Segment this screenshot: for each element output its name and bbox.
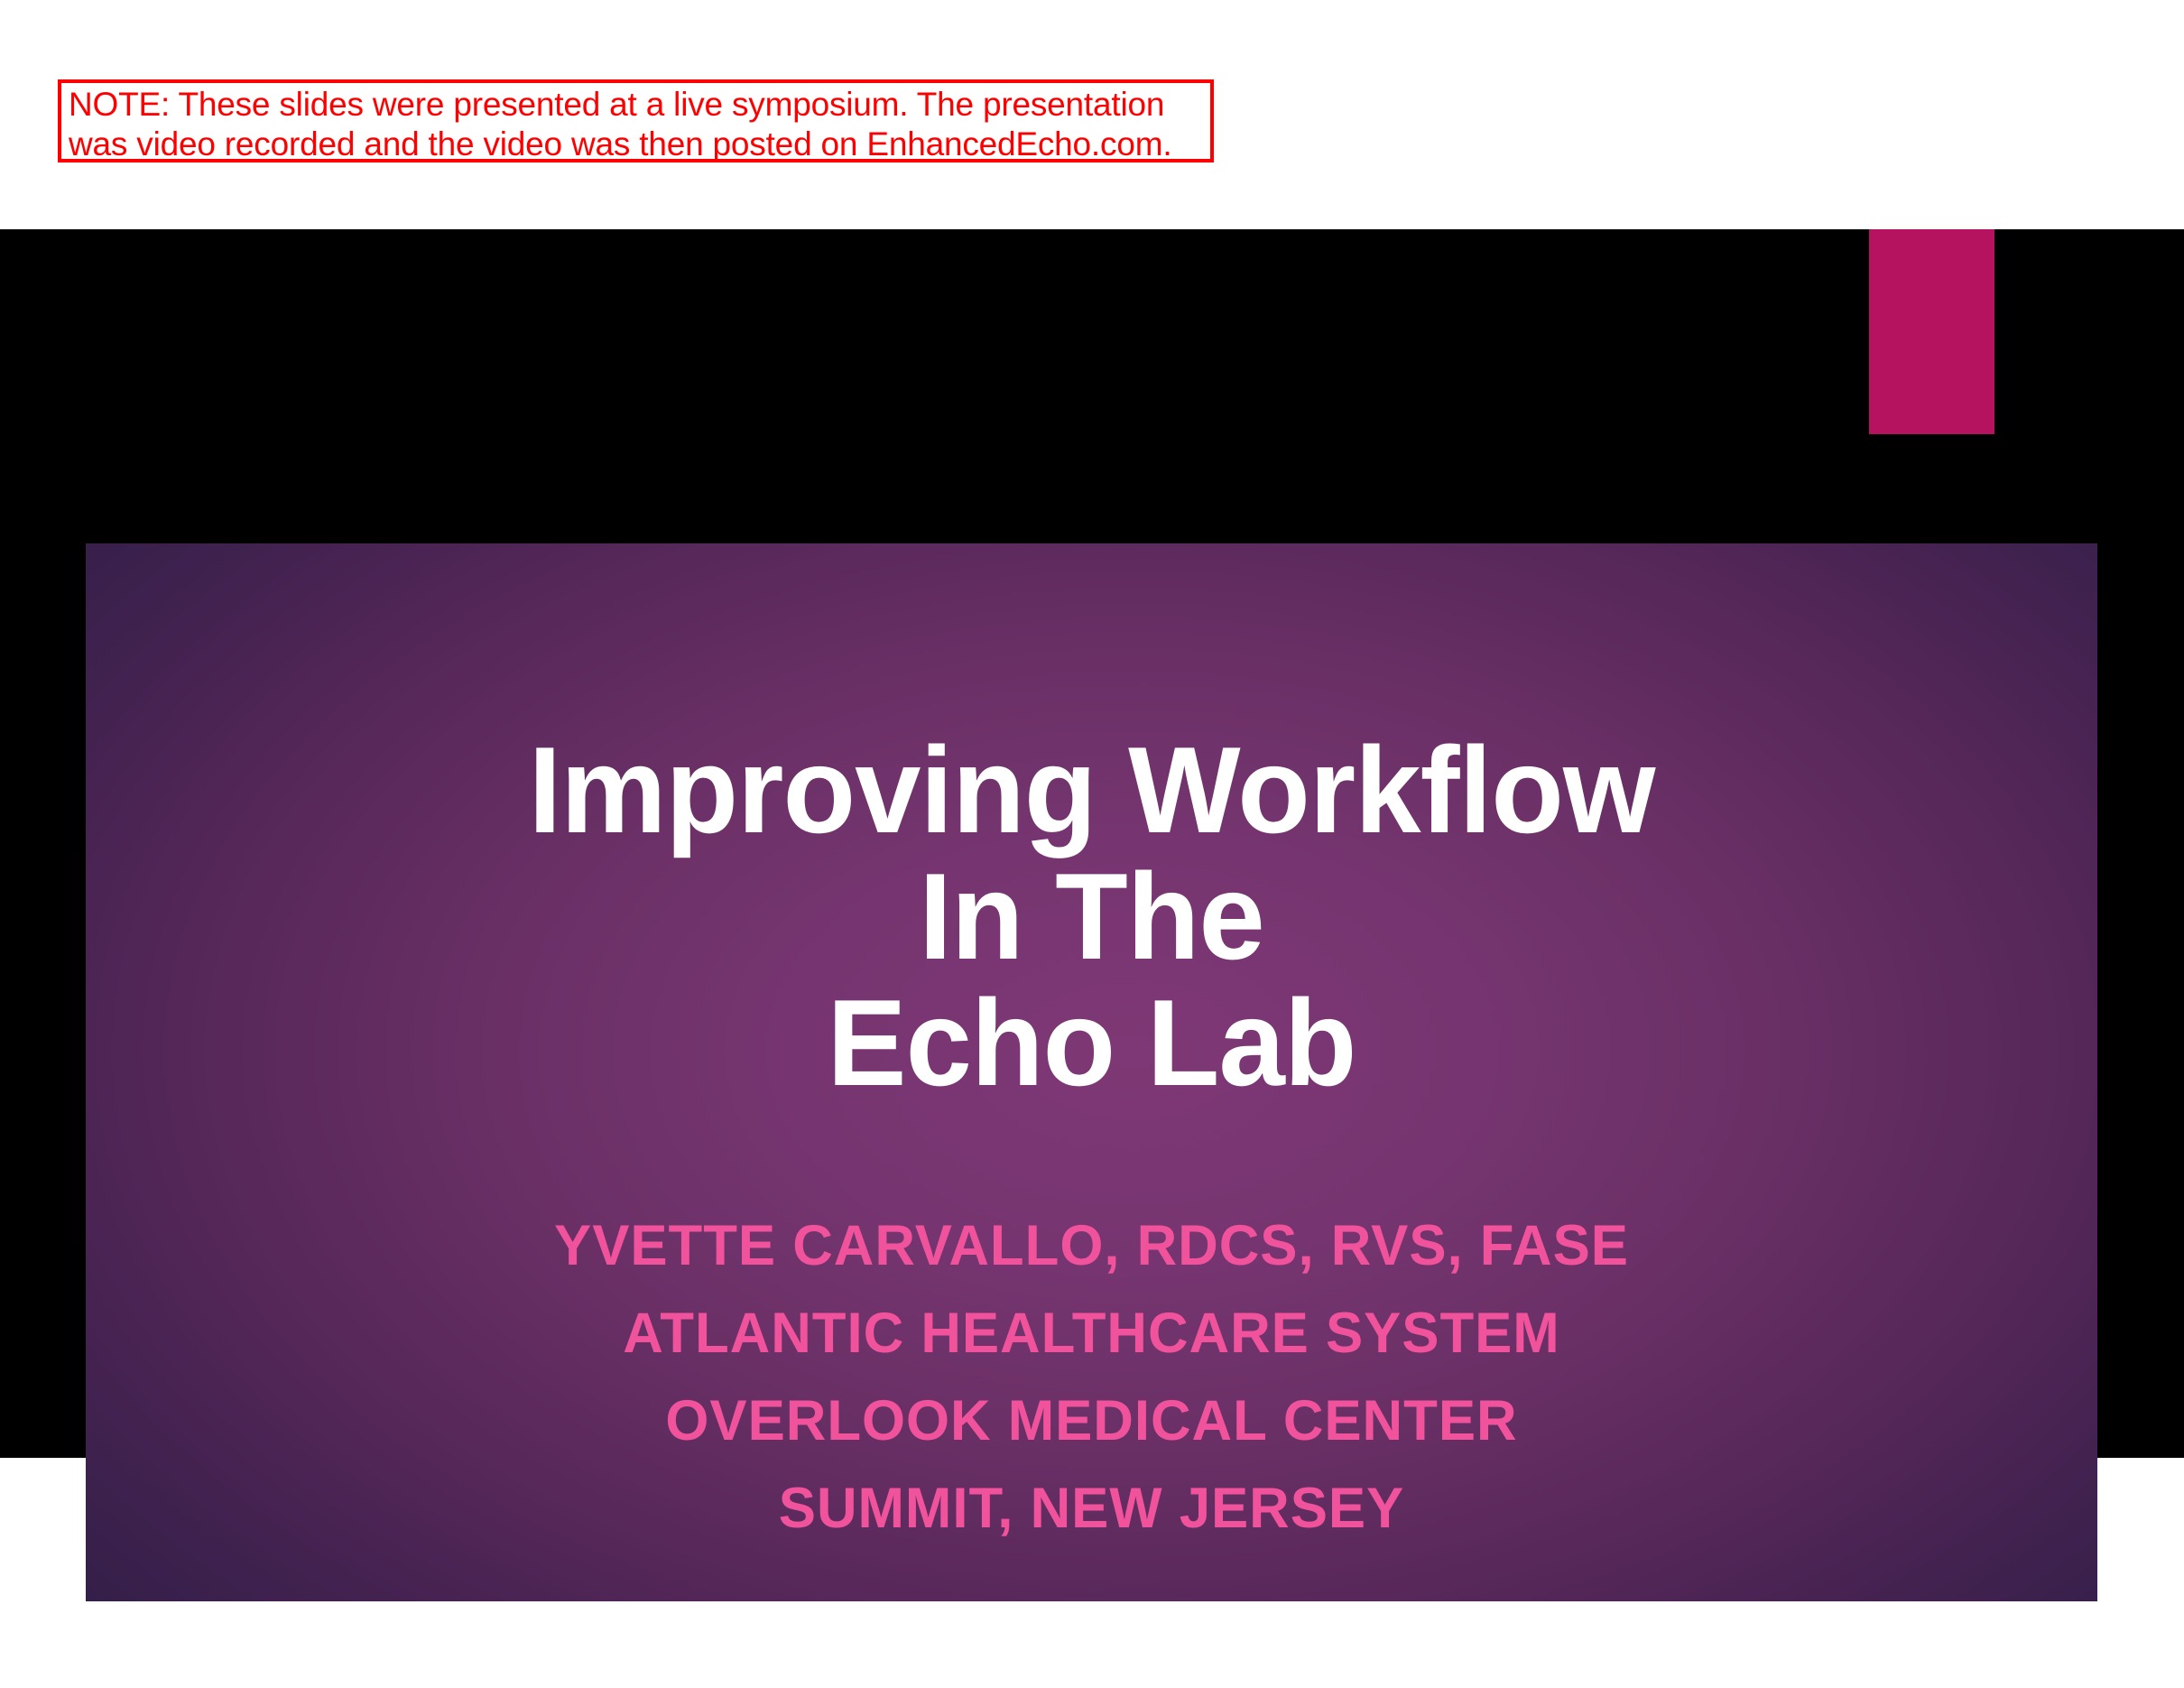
subtitle-facility: OVERLOOK MEDICAL CENTER xyxy=(106,1377,2077,1465)
title-line-1: Improving Workflow xyxy=(116,733,2067,847)
presentation-note-box: NOTE: These slides were presented at a l… xyxy=(58,79,1214,162)
slide-black-background: Improving Workflow In The Echo Lab YVETT… xyxy=(0,229,2184,1458)
subtitle-organization: ATLANTIC HEALTHCARE SYSTEM xyxy=(106,1290,2077,1377)
slide-subtitle: YVETTE CARVALLO, RDCS, RVS, FASE ATLANTI… xyxy=(86,1202,2097,1553)
slide-title: Improving Workflow In The Echo Lab xyxy=(86,733,2097,1099)
magenta-accent-rectangle xyxy=(1869,229,1994,434)
subtitle-presenter: YVETTE CARVALLO, RDCS, RVS, FASE xyxy=(106,1202,2077,1290)
note-line-1: NOTE: These slides were presented at a l… xyxy=(69,85,1205,125)
title-line-2: In The xyxy=(116,859,2067,973)
title-line-3: Echo Lab xyxy=(116,986,2067,1099)
note-line-2: was video recorded and the video was the… xyxy=(69,125,1205,164)
slide-gradient-panel: Improving Workflow In The Echo Lab YVETT… xyxy=(86,543,2097,1601)
subtitle-location: SUMMIT, NEW JERSEY xyxy=(106,1465,2077,1553)
